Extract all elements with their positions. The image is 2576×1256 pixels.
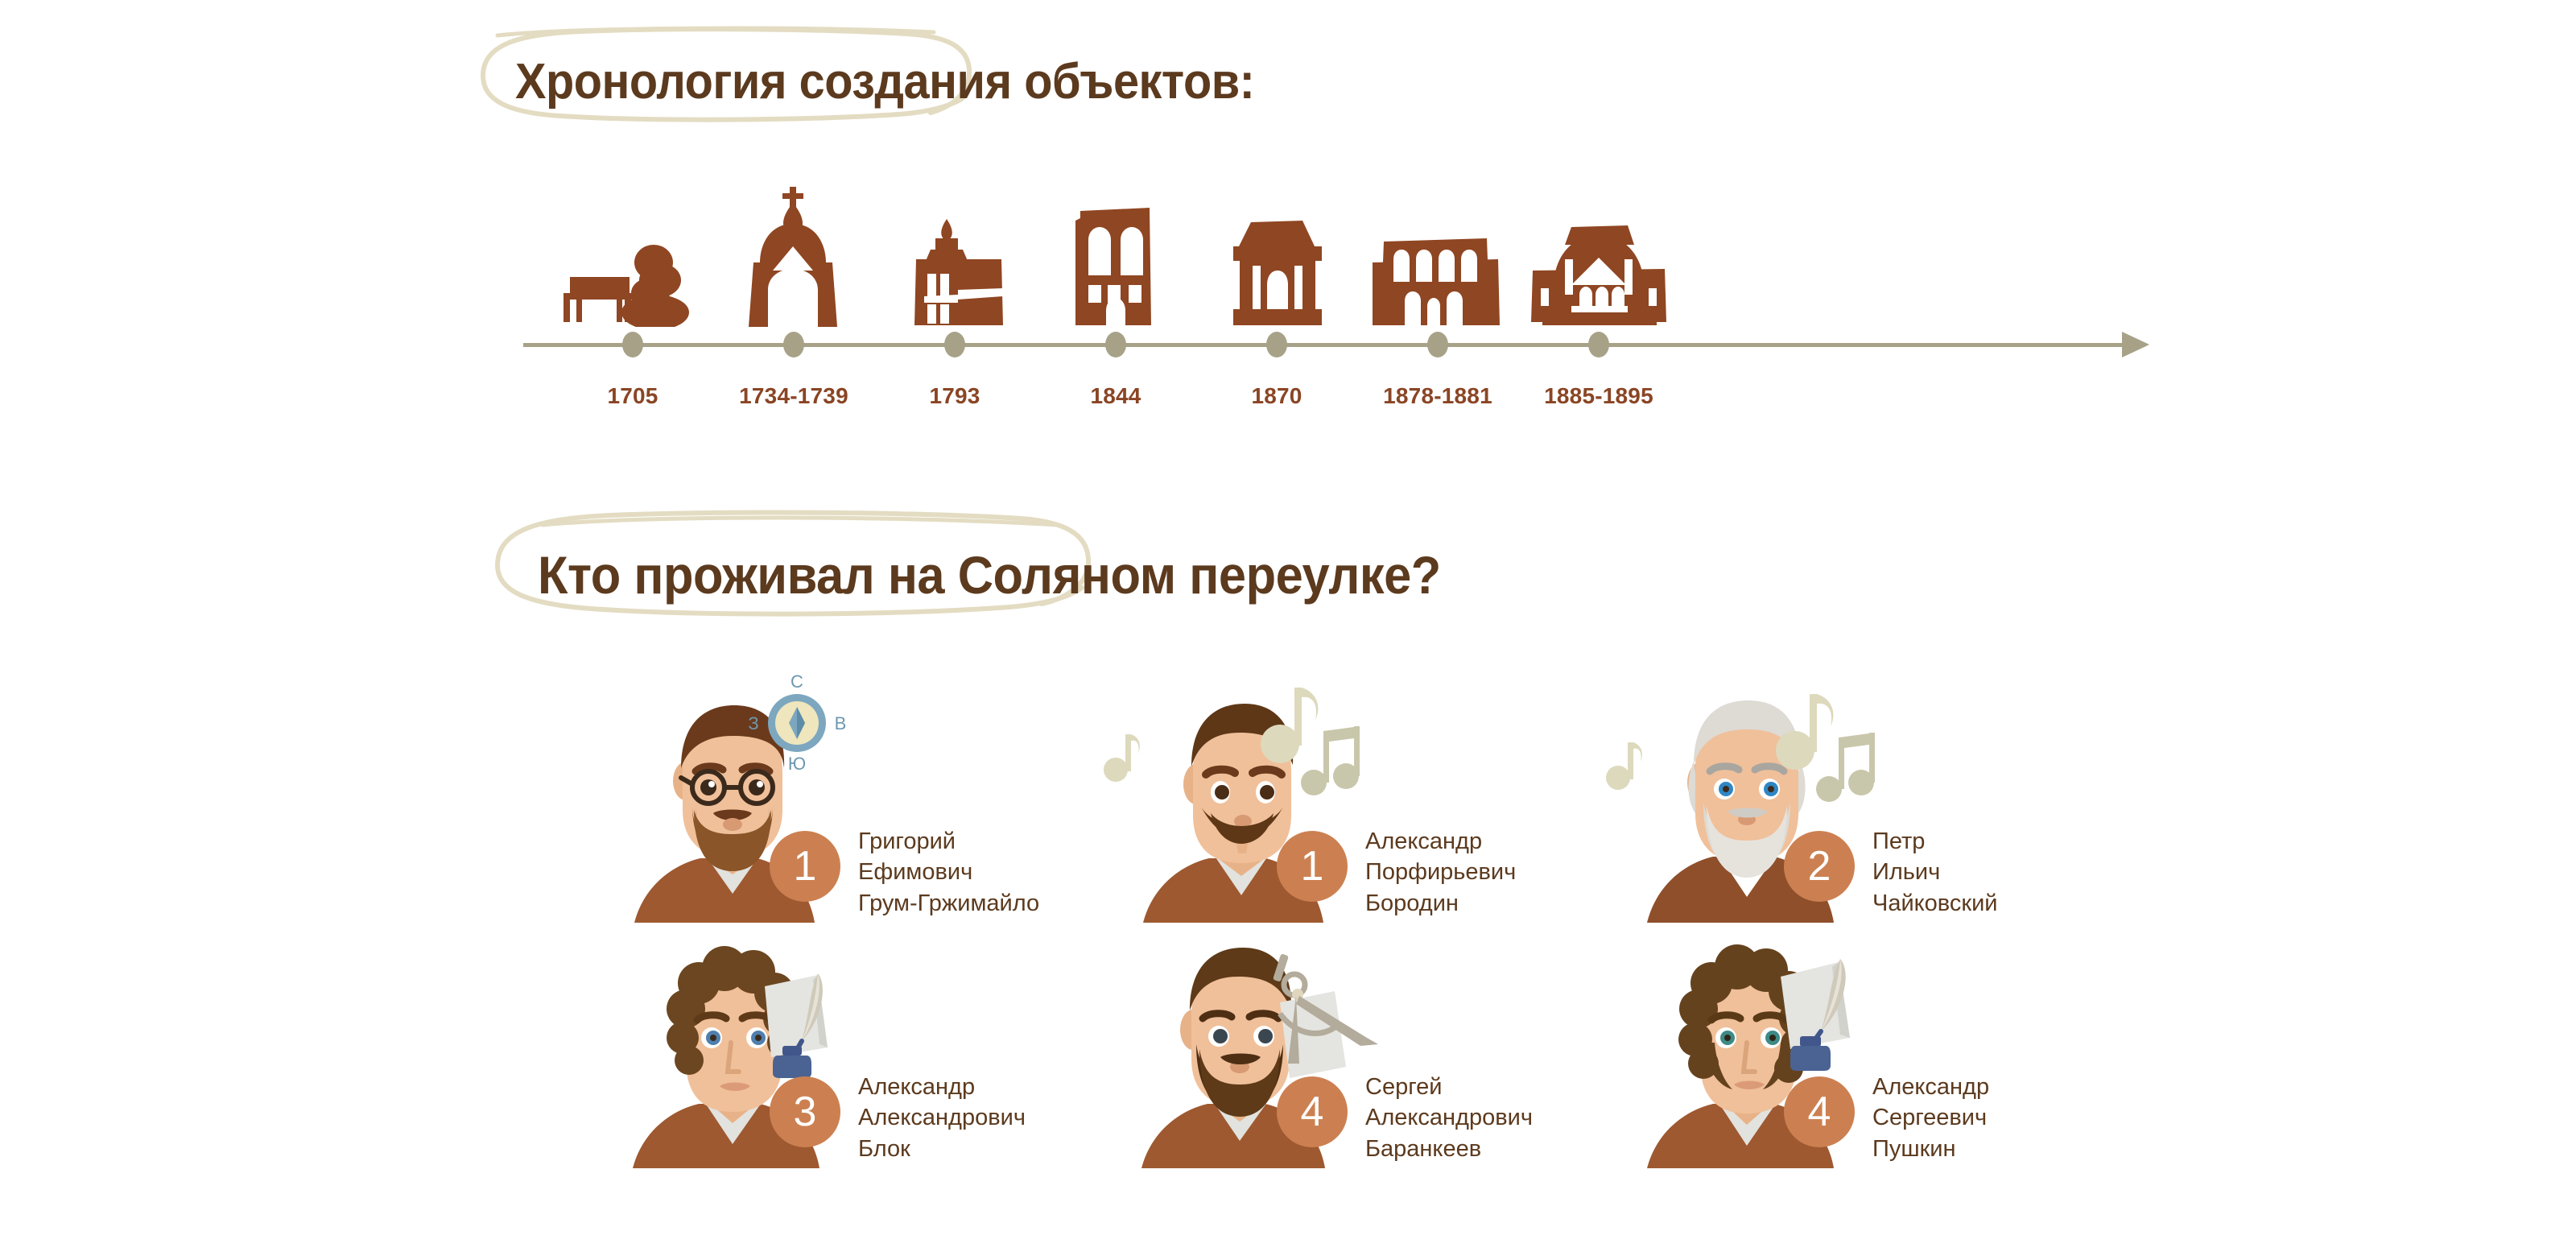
person-name-line: Григорий (858, 826, 1100, 857)
person-name-line: Александрович (1365, 1102, 1607, 1133)
person-card[interactable]: С В Ю З 1 Григорий Ефимович Грум-Гржимай… (612, 684, 1111, 926)
person-name-line: Сергей (1365, 1072, 1607, 1102)
music-note-icon (1605, 737, 1645, 794)
person-name-line: Петр (1872, 826, 2114, 857)
person-card[interactable]: 2 Петр Ильич Чайковский (1626, 684, 2125, 926)
chronology-heading-group: Хронология создания объектов: (448, 23, 1311, 110)
person-badge: 1 (1277, 831, 1348, 902)
person-name: Александр Александрович Блок (858, 1072, 1100, 1164)
timeline-arrow-icon (2122, 332, 2149, 357)
compass-icon: С В Ю З (741, 671, 853, 776)
domed-pavilion-icon (1486, 185, 1711, 327)
residents-grid: С В Ю З 1 Григорий Ефимович Грум-Гржимай… (0, 684, 2576, 1184)
timeline-marker-dot (622, 332, 643, 357)
person-card[interactable]: 4 Александр Сергеевич Пушкин (1626, 930, 2125, 1171)
person-name-line: Ефимович (858, 857, 1100, 887)
person-card[interactable]: 4 Сергей Александрович Баранкеев (1119, 930, 1618, 1171)
compass-west-label: З (748, 713, 758, 733)
drafting-compass-icon (1261, 949, 1381, 1078)
person-card[interactable]: 1 Александр Порфирьевич Бородин (1119, 684, 1618, 926)
timeline-marker-dot (783, 332, 804, 357)
person-badge: 1 (770, 831, 840, 902)
music-note-icon (1103, 729, 1143, 786)
timeline-marker-dot (1266, 332, 1287, 357)
person-name-line: Александр (1872, 1072, 2114, 1102)
person-name-line: Ильич (1872, 857, 2114, 887)
quill-and-inkwell-icon (760, 967, 857, 1080)
person-name-line: Чайковский (1872, 888, 2114, 919)
timeline-item[interactable]: 1885-1895 (1486, 185, 1711, 327)
chronology-heading-text: Хронология создания объектов: (515, 53, 1254, 110)
person-badge: 4 (1784, 1076, 1855, 1147)
person-name: Петр Ильич Чайковский (1872, 826, 2114, 919)
person-name-line: Баранкеев (1365, 1134, 1607, 1164)
person-badge: 3 (770, 1076, 840, 1147)
person-name: Александр Порфирьевич Бородин (1365, 826, 1607, 919)
music-notes-icon (1773, 688, 1877, 808)
person-name-line: Пушкин (1872, 1134, 2114, 1164)
compass-south-label: Ю (788, 754, 806, 774)
quill-and-inkwell-icon (1773, 952, 1877, 1073)
compass-north-label: С (791, 671, 803, 692)
person-name: Григорий Ефимович Грум-Гржимайло (858, 826, 1100, 919)
residents-heading-text: Кто проживал на Соляном переулке? (538, 544, 1441, 605)
timeline-marker-dot (944, 332, 965, 357)
infographic-canvas: Хронология создания объектов: (0, 0, 2576, 1256)
person-name-line: Грум-Гржимайло (858, 888, 1100, 919)
person-badge: 2 (1784, 831, 1855, 902)
person-badge: 4 (1277, 1076, 1348, 1147)
person-name-line: Александр (858, 1072, 1100, 1102)
compass-east-label: В (835, 713, 847, 733)
residents-heading-group: Кто проживал на Соляном переулке? (465, 507, 1509, 605)
person-name-line: Порфирьевич (1365, 857, 1607, 887)
timeline-marker-dot (1105, 332, 1126, 357)
person-name-line: Александрович (858, 1102, 1100, 1133)
timeline-marker-dot (1588, 332, 1609, 357)
timeline: 1705 1734-1739 (0, 185, 2576, 419)
person-card[interactable]: 3 Александр Александрович Блок (612, 930, 1111, 1171)
person-name: Сергей Александрович Баранкеев (1365, 1072, 1607, 1164)
person-name-line: Блок (858, 1134, 1100, 1164)
timeline-marker-dot (1427, 332, 1448, 357)
person-name: Александр Сергеевич Пушкин (1872, 1072, 2114, 1164)
timeline-date-label: 1885-1895 (1486, 383, 1711, 409)
person-name-line: Бородин (1365, 888, 1607, 919)
music-notes-icon (1257, 681, 1362, 802)
timeline-axis-line (523, 343, 2128, 347)
person-name-line: Сергеевич (1872, 1102, 2114, 1133)
person-name-line: Александр (1365, 826, 1607, 857)
